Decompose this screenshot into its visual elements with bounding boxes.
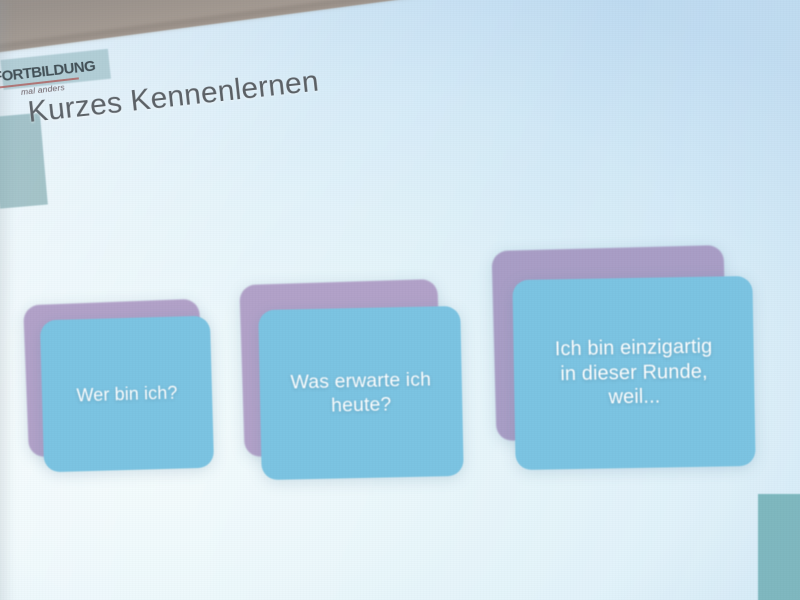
card-group-2: Was erwarte ichheute? (230, 260, 480, 510)
card-front-2[interactable]: Was erwarte ichheute? (258, 306, 464, 480)
corner-accent-block (758, 494, 800, 600)
card-text-3: Ich bin einzigartigin dieser Runde,weil.… (545, 334, 724, 411)
card-text-line: Was erwarte ich (290, 367, 431, 394)
slide-photo-stage: FORTBILDUNG mal anders Kurzes Kennenlern… (0, 0, 800, 600)
card-text-line: weil... (555, 384, 713, 412)
card-group-1: Wer bin ich? (0, 260, 240, 500)
card-text-line: Wer bin ich? (76, 381, 178, 406)
card-text-1: Wer bin ich? (66, 381, 187, 407)
card-text-line: heute? (291, 392, 432, 419)
card-front-1[interactable]: Wer bin ich? (40, 316, 214, 473)
card-front-3[interactable]: Ich bin einzigartigin dieser Runde,weil.… (512, 276, 755, 470)
card-text-line: in dieser Runde, (555, 359, 713, 387)
card-group-3: Ich bin einzigartigin dieser Runde,weil.… (480, 230, 780, 510)
card-text-2: Was erwarte ichheute? (280, 367, 442, 419)
card-text-line: Ich bin einzigartig (555, 334, 713, 362)
